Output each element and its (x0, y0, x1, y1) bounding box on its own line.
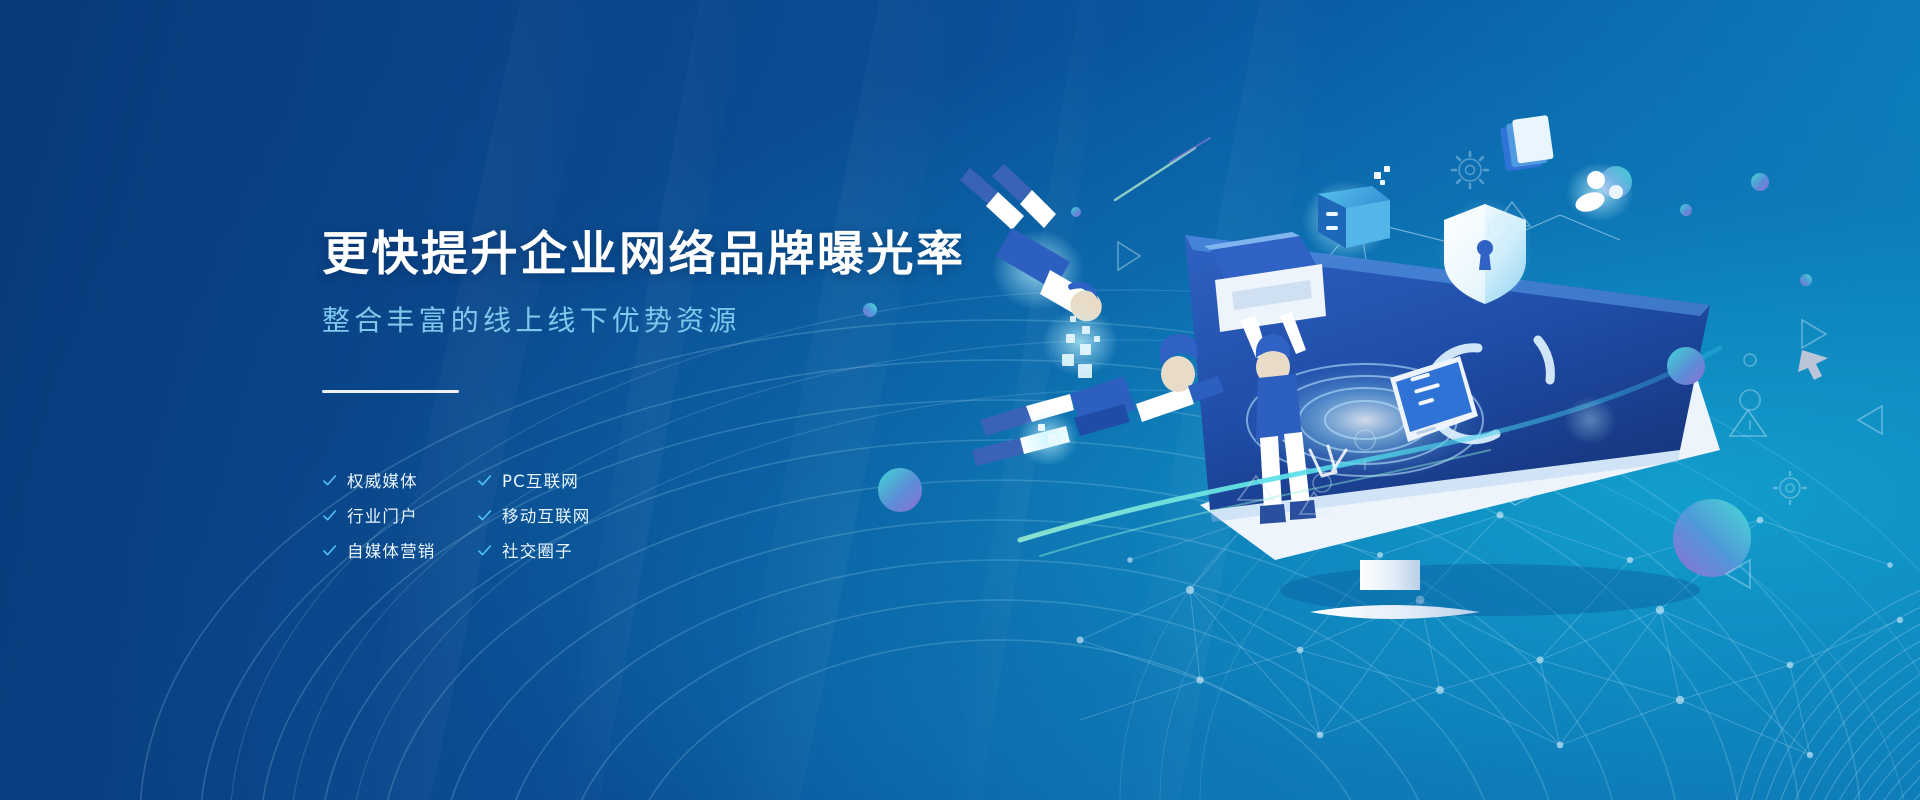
contacts-icon (1566, 162, 1634, 222)
check-icon (477, 473, 492, 488)
feature-list: 权威媒体 PC互联网 行业门户 移动互联网 (322, 463, 742, 568)
feature-label: 自媒体营销 (347, 538, 436, 562)
title-divider (322, 390, 459, 393)
network-marketing-illustration (1060, 120, 1920, 680)
feature-label: 行业门户 (347, 503, 418, 527)
feature-label: 权威媒体 (347, 468, 418, 492)
feature-label: PC互联网 (502, 468, 579, 492)
check-icon (322, 508, 337, 523)
feature-label: 社交圈子 (502, 538, 573, 562)
check-icon (322, 473, 337, 488)
cursor-icon (1798, 350, 1828, 380)
server-stack-icon (1302, 166, 1390, 260)
hero-banner: 更快提升企业网络品牌曝光率 整合丰富的线上线下优势资源 权威媒体 PC互联网 (0, 0, 1920, 800)
document-stack-icon (1500, 115, 1554, 172)
feature-item-pc-internet: PC互联网 (477, 468, 742, 492)
check-icon (322, 543, 337, 558)
page-title: 更快提升企业网络品牌曝光率 (322, 228, 1082, 283)
feature-item-mobile-internet: 移动互联网 (477, 503, 742, 527)
check-icon (477, 508, 492, 523)
feature-item-self-media-marketing: 自媒体营销 (322, 538, 477, 562)
page-subtitle: 整合丰富的线上线下优势资源 (322, 303, 1082, 339)
feature-item-social-circle: 社交圈子 (477, 538, 742, 562)
feature-label: 移动互联网 (502, 503, 591, 527)
streak-icon (1115, 138, 1210, 200)
hero-copy: 更快提升企业网络品牌曝光率 整合丰富的线上线下优势资源 权威媒体 PC互联网 (322, 228, 1082, 568)
feature-item-industry-portal: 行业门户 (322, 503, 477, 527)
laptop-icon (1204, 232, 1326, 332)
feature-item-authoritative-media: 权威媒体 (322, 468, 477, 492)
check-icon (477, 543, 492, 558)
